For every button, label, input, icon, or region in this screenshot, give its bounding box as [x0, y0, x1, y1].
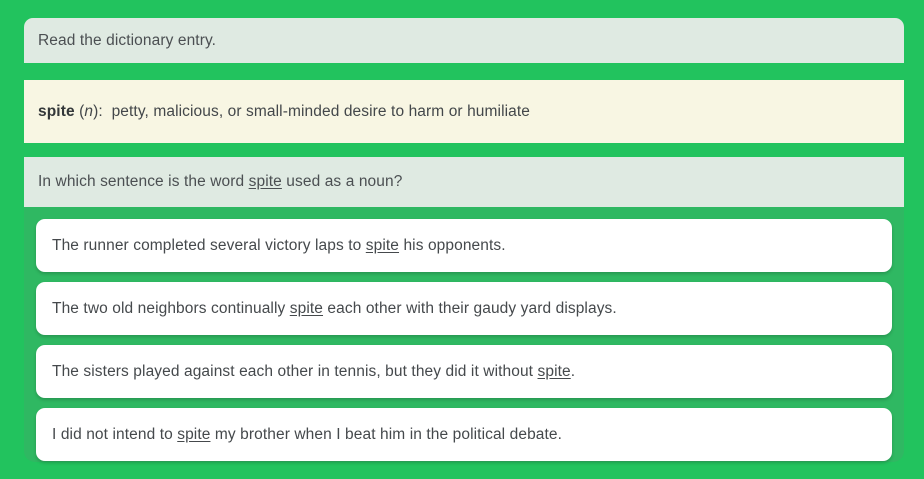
question-target-word: spite — [249, 173, 282, 190]
question-text: In which sentence is the word spite used… — [38, 173, 402, 191]
answer-option-1-suffix: his opponents. — [399, 237, 506, 254]
answer-option-4-prefix: I did not intend to — [52, 426, 177, 443]
answer-option-2-text: The two old neighbors continually spite … — [52, 300, 617, 318]
answer-option-4-text: I did not intend to spite my brother whe… — [52, 426, 562, 444]
dictionary-part-of-speech: n — [84, 103, 93, 120]
answer-option-2[interactable]: The two old neighbors continually spite … — [36, 282, 892, 335]
answer-option-1-prefix: The runner completed several victory lap… — [52, 237, 366, 254]
answer-option-3-text: The sisters played against each other in… — [52, 363, 575, 381]
answer-option-3-target-word: spite — [538, 363, 571, 380]
answer-options-panel: The runner completed several victory lap… — [24, 207, 904, 462]
question-suffix: used as a noun? — [282, 173, 403, 190]
answer-option-4-target-word: spite — [177, 426, 210, 443]
question-prefix: In which sentence is the word — [38, 173, 249, 190]
quiz-screen: Read the dictionary entry. spite (n): pe… — [0, 0, 924, 479]
answer-option-2-suffix: each other with their gaudy yard display… — [323, 300, 617, 317]
answer-option-1-target-word: spite — [366, 237, 399, 254]
answer-option-4-suffix: my brother when I beat him in the politi… — [210, 426, 562, 443]
answer-option-1-text: The runner completed several victory lap… — [52, 237, 506, 255]
answer-option-2-target-word: spite — [290, 300, 323, 317]
question-panel: In which sentence is the word spite used… — [24, 157, 904, 207]
answer-options-list: The runner completed several victory lap… — [36, 219, 892, 461]
instruction-panel: Read the dictionary entry. — [24, 18, 904, 63]
answer-option-3-suffix: . — [571, 363, 575, 380]
dictionary-entry-text: spite (n): petty, malicious, or small-mi… — [38, 103, 530, 121]
answer-option-1[interactable]: The runner completed several victory lap… — [36, 219, 892, 272]
answer-option-3-prefix: The sisters played against each other in… — [52, 363, 538, 380]
instruction-text: Read the dictionary entry. — [38, 32, 216, 50]
dictionary-close-paren: ): — [93, 103, 111, 120]
answer-option-4[interactable]: I did not intend to spite my brother whe… — [36, 408, 892, 461]
dictionary-open-paren: ( — [75, 103, 85, 120]
dictionary-entry-panel: spite (n): petty, malicious, or small-mi… — [24, 80, 904, 143]
dictionary-definition: petty, malicious, or small-minded desire… — [112, 103, 530, 120]
dictionary-term: spite — [38, 103, 75, 120]
answer-option-2-prefix: The two old neighbors continually — [52, 300, 290, 317]
answer-option-3[interactable]: The sisters played against each other in… — [36, 345, 892, 398]
